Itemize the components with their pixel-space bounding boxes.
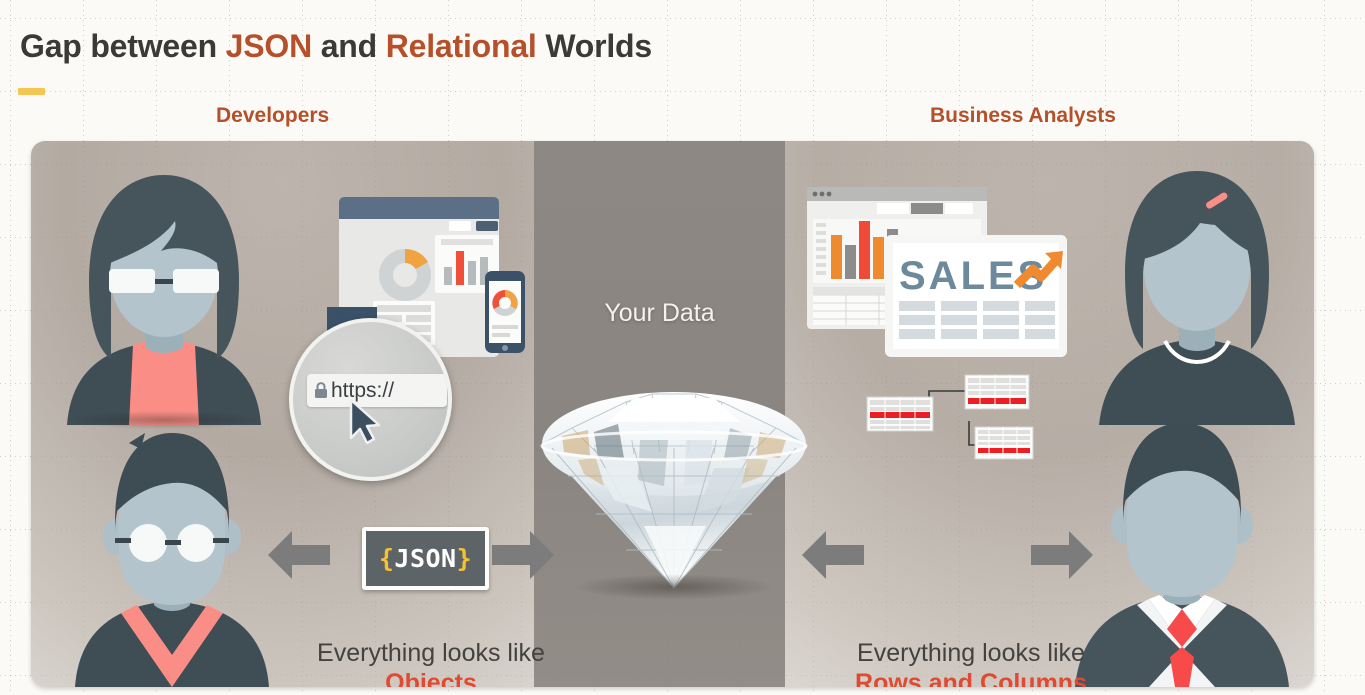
caption-right-line1: Everything looks like	[776, 639, 1166, 669]
caption-left-line2: Objects	[236, 669, 626, 688]
json-badge: {JSON}	[362, 527, 489, 590]
center-label: Your Data	[534, 299, 785, 328]
cursor-arrow-icon	[348, 398, 386, 446]
title-accent-word: JSON	[226, 28, 312, 64]
diamond-graphic	[534, 336, 814, 656]
diamond-svg	[534, 336, 814, 596]
female-analyst-graphic	[1087, 159, 1307, 425]
column-heading-developers: Developers	[216, 104, 329, 128]
title-accent-rule	[18, 88, 45, 95]
caption-right-line2: Rows and Columns	[776, 669, 1166, 688]
relational-tables-graphic	[857, 369, 1047, 479]
title-word: Worlds	[537, 28, 652, 64]
avatar-female-analyst	[1087, 159, 1307, 425]
caption-developers: Everything looks like Objects	[236, 639, 626, 687]
title-word: Gap between	[20, 28, 226, 64]
caption-left-line1: Everything looks like	[236, 639, 626, 669]
lock-icon	[314, 382, 328, 399]
column-heading-business-analysts: Business Analysts	[930, 104, 1116, 128]
url-magnifier-bubble: https://	[289, 318, 452, 481]
diamond-shadow	[574, 574, 774, 600]
title-accent-word: Relational	[386, 28, 537, 64]
title-word: and	[312, 28, 386, 64]
avatar-female-developer	[49, 163, 279, 425]
female-developer-graphic	[49, 163, 279, 425]
json-word: JSON	[394, 544, 456, 573]
analyst-spreadsheets: SALES	[801, 177, 1081, 377]
page-title: Gap between JSON and Relational Worlds	[20, 28, 652, 65]
arrow-left-analysts	[802, 531, 864, 579]
json-close-brace: }	[457, 544, 473, 573]
json-open-brace: {	[379, 544, 395, 573]
arrow-left-developers	[268, 531, 330, 579]
caption-analysts: Everything looks like Rows and Columns	[776, 639, 1166, 687]
illustration-panel: https:// {JSON} Your Data	[31, 141, 1314, 687]
